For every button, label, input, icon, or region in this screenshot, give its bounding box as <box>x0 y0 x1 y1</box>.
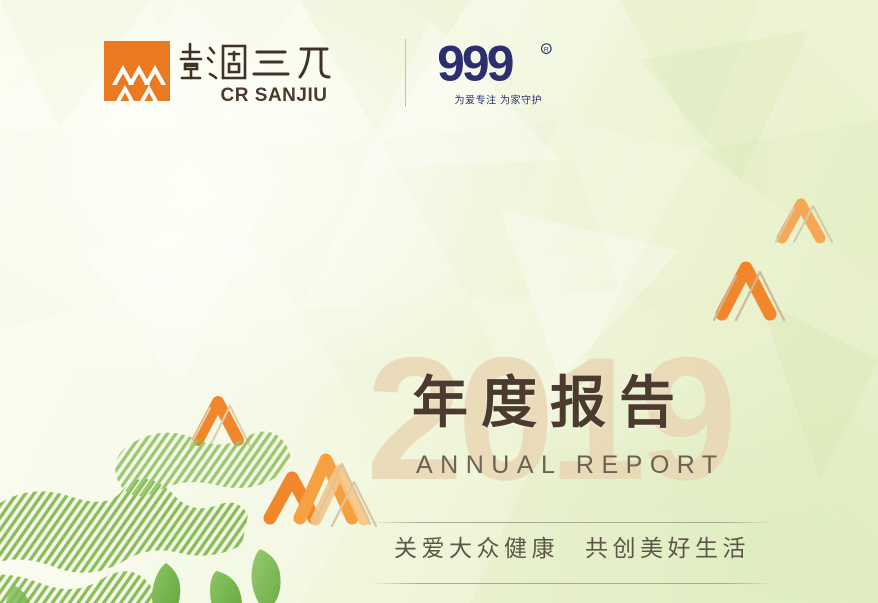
logo-bar: CR SANJIU 999 R 为爱专注 为家守护 <box>104 38 558 107</box>
cr-sanjiu-logo: CR SANJIU <box>104 41 369 105</box>
cr-sanjiu-english-wordmark: CR SANJIU <box>221 86 328 105</box>
slogan-left: 关爱大众健康 <box>394 535 559 561</box>
999-wordmark: 999 R <box>439 40 558 86</box>
page-title-en: ANNUAL REPORT <box>416 453 725 478</box>
cr-sanjiu-chinese-wordmark <box>179 41 369 81</box>
999-logo: 999 R 为爱专注 为家守护 <box>439 38 558 107</box>
svg-text:999: 999 <box>439 40 513 86</box>
slogan-right: 共创美好生活 <box>585 535 750 561</box>
slogan-rule-bottom <box>370 583 774 584</box>
cr-sanjiu-mountain-mark <box>104 41 170 105</box>
svg-text:R: R <box>544 47 549 54</box>
chevron-top-right-small <box>768 186 840 248</box>
slogan: 关爱大众健康共创美好生活 <box>368 537 776 560</box>
999-tagline: 为爱专注 为家守护 <box>444 93 553 107</box>
page-title-cn: 年度报告 <box>412 376 688 432</box>
chevron-right-upper <box>706 246 798 328</box>
green-hatched-foliage <box>0 399 330 603</box>
slogan-rule-top <box>370 522 774 523</box>
annual-report-cover: CR SANJIU 999 R 为爱专注 为家守护 <box>0 0 878 603</box>
title-block: 2019 年度报告 ANNUAL REPORT 关爱大众健康共创美好生活 <box>360 338 780 588</box>
svg-text:为爱专注 为家守护: 为爱专注 为家守护 <box>455 94 543 107</box>
chevron-left-small <box>184 382 264 454</box>
logo-divider <box>405 39 406 107</box>
